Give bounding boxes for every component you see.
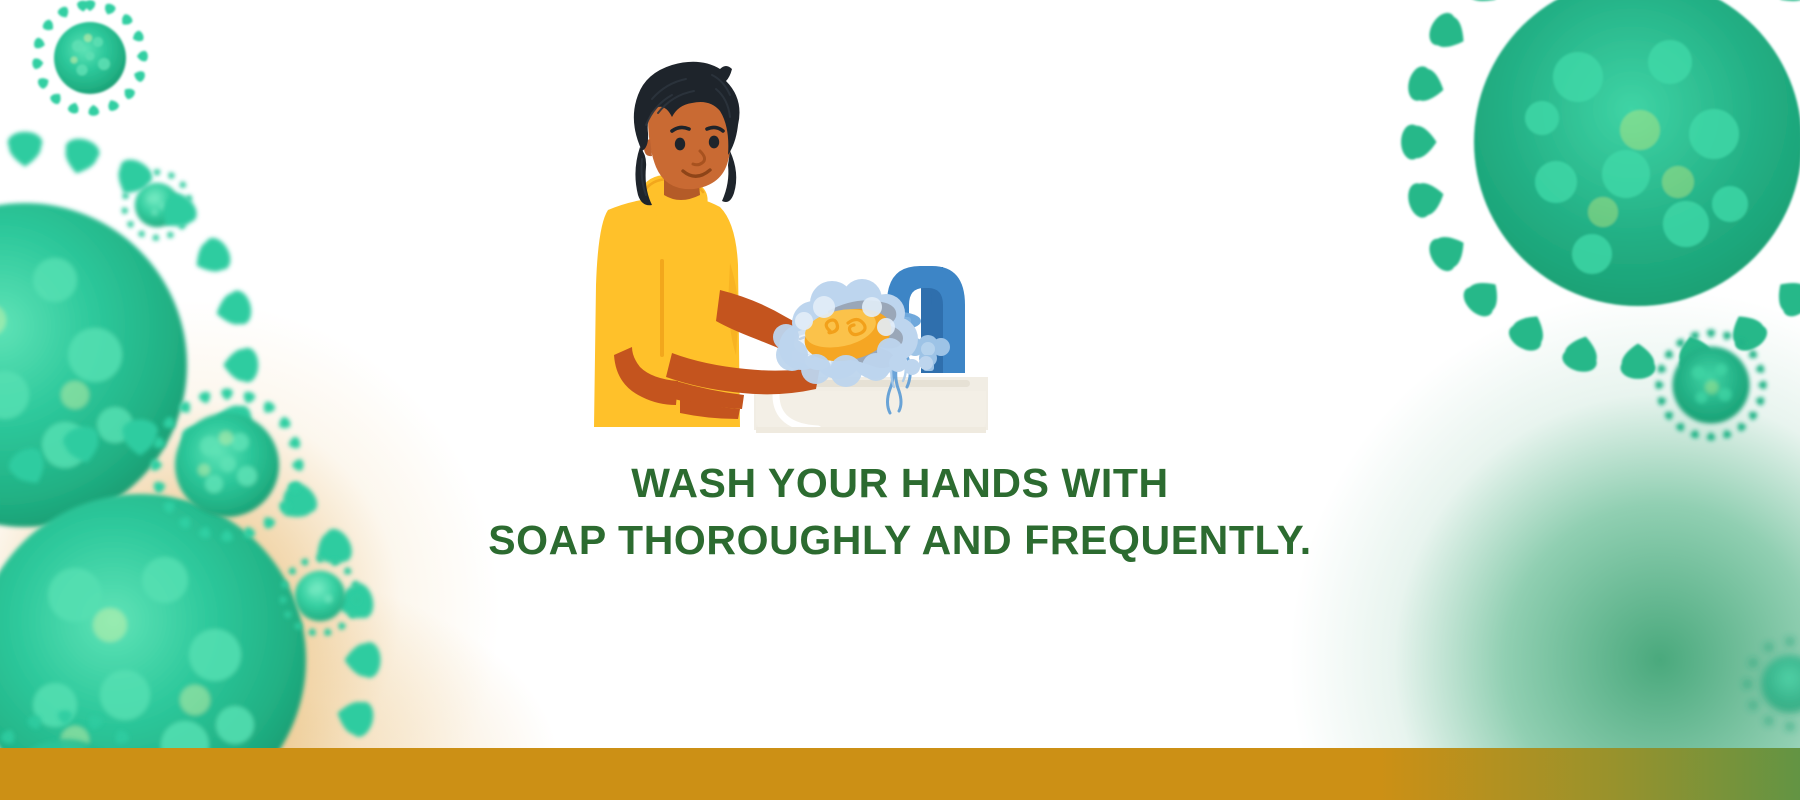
headline-line-1: WASH YOUR HANDS WITH [0,455,1800,512]
headline-line-2: SOAP THOROUGHLY AND FREQUENTLY. [0,512,1800,569]
virus-particle [120,168,194,242]
virus-particle [1742,636,1800,732]
headline: WASH YOUR HANDS WITH SOAP THOROUGHLY AND… [0,455,1800,568]
bottom-gold-bar [0,748,1800,800]
awareness-banner: WASH YOUR HANDS WITH SOAP THOROUGHLY AND… [0,0,1800,800]
gold-bar-green-tint [1380,748,1800,800]
virus-particle-large-right [1378,0,1800,402]
virus-particle [1648,322,1774,448]
virus-particle [30,0,150,118]
handwashing-illustration [580,55,1040,455]
